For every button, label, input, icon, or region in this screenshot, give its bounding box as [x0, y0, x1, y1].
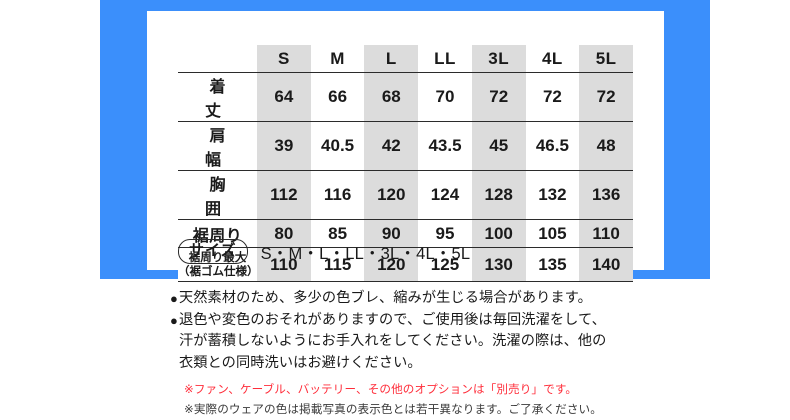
row-label-text-line2: （裾ゴム仕様） [178, 265, 257, 279]
cell-chest-3l: 128 [472, 171, 526, 220]
size-label-chip: サイズ [178, 239, 248, 264]
bullet-icon: ● [170, 310, 178, 332]
note-text-line-2: 汗が蓄積しないようにお手入れをしてください。洗濯の際は、他の [179, 333, 607, 349]
optional-parts-note: ※ファン、ケーブル、バッテリー、その他のオプションは「別売り」です。 [184, 381, 690, 398]
list-item: ● 退色や変色のおそれがありますので、ご使用後は毎回洗濯をして、 汗が蓄積しない… [170, 310, 690, 375]
cell-hem-max-3l: 130 [472, 248, 526, 282]
note-text: 天然素材のため、多少の色ブレ、縮みが生じる場合があります。 [179, 288, 690, 310]
size-availability-values: S・M・L・LL・3L・4L・5L [261, 240, 471, 264]
cell-shoulder-l: 42 [364, 122, 418, 171]
size-chart-panel: S M L LL 3L 4L 5L 着 丈 64 66 68 70 72 72 … [147, 11, 664, 270]
list-item: ● 天然素材のため、多少の色ブレ、縮みが生じる場合があります。 [170, 288, 690, 310]
cell-shoulder-3l: 45 [472, 122, 526, 171]
size-availability-line: サイズ S・M・L・LL・3L・4L・5L [178, 239, 470, 264]
header-corner-cell [178, 45, 257, 73]
row-label-chest: 胸 囲 [178, 171, 257, 220]
cell-length-m: 66 [311, 73, 365, 122]
header-cell-5l: 5L [579, 45, 633, 73]
cell-length-s: 64 [257, 73, 311, 122]
row-label-shoulder: 肩 幅 [178, 122, 257, 171]
cell-shoulder-ll: 43.5 [418, 122, 472, 171]
table-row: 着 丈 64 66 68 70 72 72 72 [178, 73, 633, 122]
table-row: 胸 囲 112 116 120 124 128 132 136 [178, 171, 633, 220]
cell-hem-4l: 105 [526, 220, 580, 248]
cell-length-ll: 70 [418, 73, 472, 122]
cell-hem-max-5l: 140 [579, 248, 633, 282]
note-text-group: 退色や変色のおそれがありますので、ご使用後は毎回洗濯をして、 汗が蓄積しないよう… [179, 310, 690, 375]
cell-hem-5l: 110 [579, 220, 633, 248]
cell-length-4l: 72 [526, 73, 580, 122]
color-disclaimer-note: ※実際のウェアの色は掲載写真の表示色とは若干異なります。ご了承ください。 [184, 401, 690, 418]
cell-hem-3l: 100 [472, 220, 526, 248]
cell-shoulder-5l: 48 [579, 122, 633, 171]
row-label-text: 着 丈 [178, 73, 257, 121]
cell-chest-5l: 136 [579, 171, 633, 220]
table-row: 肩 幅 39 40.5 42 43.5 45 46.5 48 [178, 122, 633, 171]
cell-shoulder-4l: 46.5 [526, 122, 580, 171]
cell-shoulder-m: 40.5 [311, 122, 365, 171]
cell-length-l: 68 [364, 73, 418, 122]
header-cell-4l: 4L [526, 45, 580, 73]
size-chart-graphic: S M L LL 3L 4L 5L 着 丈 64 66 68 70 72 72 … [0, 0, 790, 420]
cell-length-5l: 72 [579, 73, 633, 122]
notes-block: ● 天然素材のため、多少の色ブレ、縮みが生じる場合があります。 ● 退色や変色の… [170, 288, 690, 418]
cell-length-3l: 72 [472, 73, 526, 122]
cell-chest-ll: 124 [418, 171, 472, 220]
header-cell-l: L [364, 45, 418, 73]
cell-chest-4l: 132 [526, 171, 580, 220]
row-label-text: 肩 幅 [178, 122, 257, 170]
cell-chest-m: 116 [311, 171, 365, 220]
note-text-line-3: 衣類との同時洗いはお避けください。 [179, 355, 422, 371]
size-table-header-row: S M L LL 3L 4L 5L [178, 45, 633, 73]
row-label-text: 胸 囲 [178, 171, 257, 219]
header-cell-ll: LL [418, 45, 472, 73]
cell-hem-max-4l: 135 [526, 248, 580, 282]
note-text-line-1: 退色や変色のおそれがありますので、ご使用後は毎回洗濯をして、 [179, 312, 606, 328]
bullet-icon: ● [170, 288, 178, 310]
cell-chest-s: 112 [257, 171, 311, 220]
header-cell-3l: 3L [472, 45, 526, 73]
cell-chest-l: 120 [364, 171, 418, 220]
row-label-length: 着 丈 [178, 73, 257, 122]
cell-shoulder-s: 39 [257, 122, 311, 171]
header-cell-s: S [257, 45, 311, 73]
header-cell-m: M [311, 45, 365, 73]
